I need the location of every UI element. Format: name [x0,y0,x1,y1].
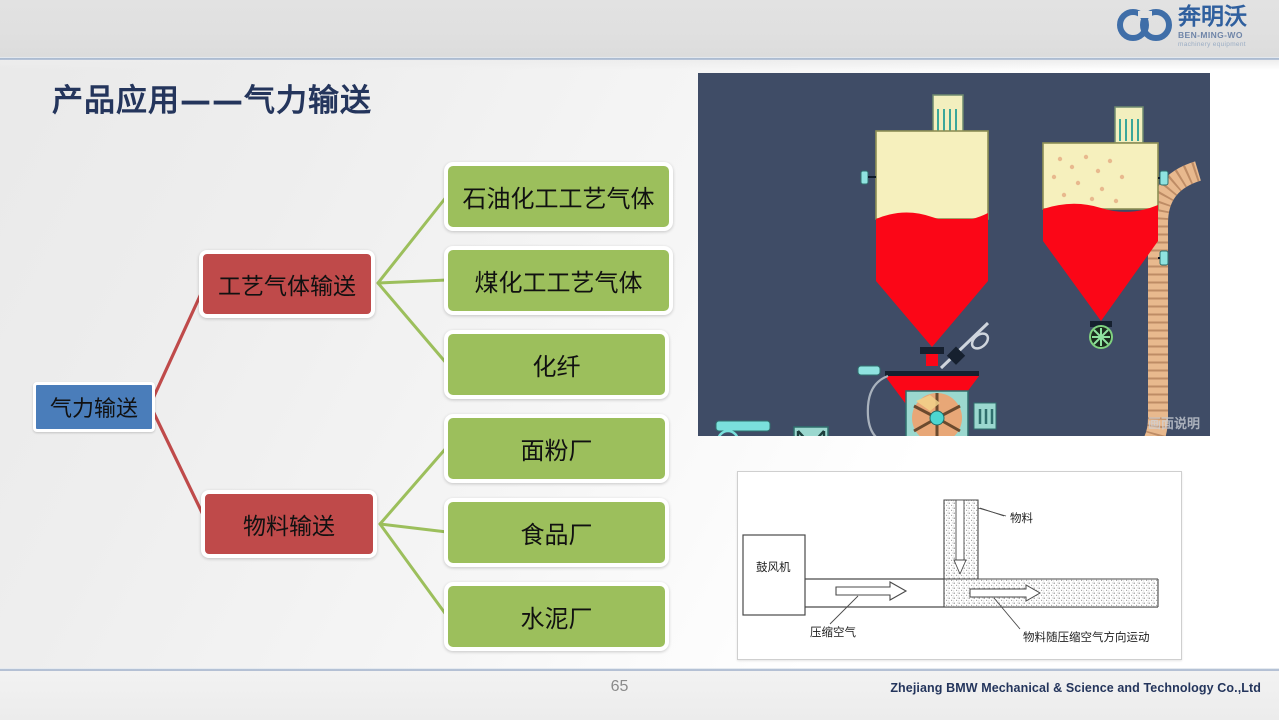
footer-company-name: Zhejiang BMW Mechanical & Science and Te… [890,681,1261,695]
header-band [0,0,1279,57]
logo-wordmark: 奔明沃 BEN-MING-WO machinery equipment [1178,2,1271,49]
node-leaf-flour-mill[interactable]: 面粉厂 [444,414,669,483]
node-branch-process-gas[interactable]: 工艺气体输送 [199,250,375,318]
label-material: 物料 [1010,510,1033,526]
image-watermark: 画面说明 [1148,413,1200,432]
node-leaf-coal-chemical-gas[interactable]: 煤化工工艺气体 [444,246,673,315]
node-leaf-chemical-fiber[interactable]: 化纤 [444,330,669,399]
company-logo: 奔明沃 BEN-MING-WO machinery equipment [1116,2,1271,54]
logo-tagline: machinery equipment [1178,40,1271,49]
logo-mark-icon [1116,5,1178,45]
label-blower: 鼓风机 [756,559,791,575]
node-leaf-label: 石油化工工艺气体 [463,179,655,214]
node-leaf-label: 煤化工工艺气体 [475,263,643,298]
application-tree-diagram: 气力输送 工艺气体输送 物料输送 石油化工工艺气体 煤化工工艺气体 化纤 面粉厂… [0,120,700,680]
schematic-top-graphic [698,73,1210,436]
node-leaf-label: 面粉厂 [521,431,593,466]
node-leaf-food-factory[interactable]: 食品厂 [444,498,669,567]
node-root[interactable]: 气力输送 [33,382,155,432]
pneumatic-conveying-schematic-image: 画面说明 [698,73,1210,436]
node-leaf-petrochemical-gas[interactable]: 石油化工工艺气体 [444,162,673,231]
node-leaf-cement-plant[interactable]: 水泥厂 [444,582,669,651]
node-root-label: 气力输送 [50,391,138,423]
slide-canvas: 奔明沃 BEN-MING-WO machinery equipment 产品应用… [0,0,1279,720]
logo-english-name: BEN-MING-WO [1178,30,1271,40]
node-leaf-label: 化纤 [533,347,581,382]
label-material-motion: 物料随压缩空气方向运动 [1023,629,1150,645]
conveying-principle-diagram-image: 鼓风机 压缩空气 物料 物料随压缩空气方向运动 [737,471,1182,660]
header-shadow [0,60,1279,70]
node-leaf-label: 食品厂 [521,515,593,550]
node-branch-material[interactable]: 物料输送 [201,490,377,558]
node-leaf-label: 水泥厂 [521,599,593,634]
label-compressed-air: 压缩空气 [810,624,856,640]
node-branch-label: 物料输送 [243,507,335,541]
node-branch-label: 工艺气体输送 [218,267,356,301]
page-title: 产品应用——气力输送 [52,75,372,120]
logo-chinese-name: 奔明沃 [1178,4,1271,30]
